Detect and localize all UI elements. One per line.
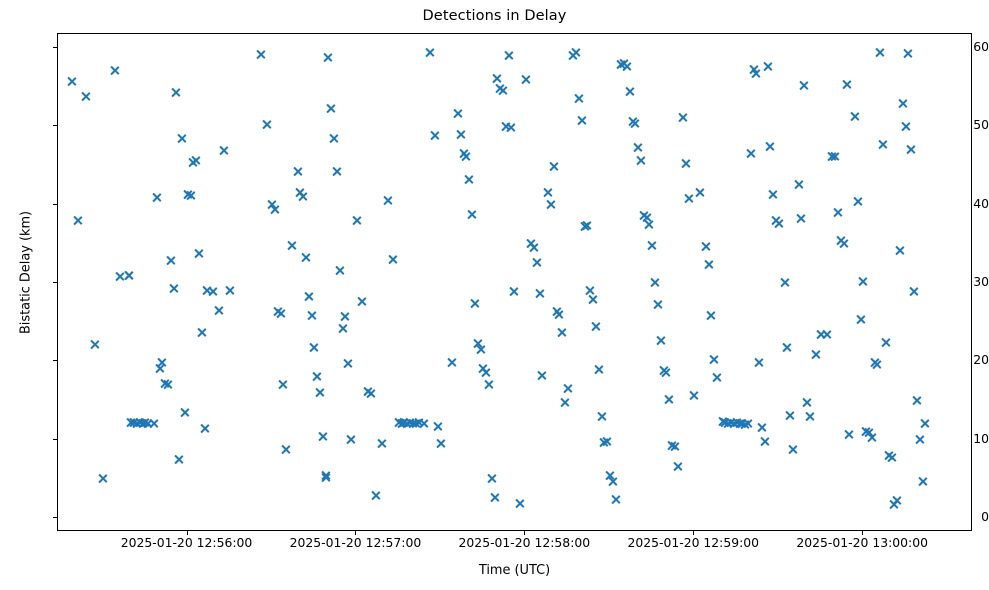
scatter-point (739, 419, 750, 430)
scatter-point (292, 166, 303, 177)
scatter-point (877, 139, 888, 150)
scatter-point (894, 245, 905, 256)
scatter-point (312, 371, 323, 382)
scatter-point (278, 379, 289, 390)
scatter-point (590, 321, 601, 332)
scatter-point (320, 470, 331, 481)
scatter-point (452, 108, 463, 119)
scatter-point (154, 363, 165, 374)
scatter-point (593, 364, 604, 375)
scatter-point (157, 357, 168, 368)
scatter-point (556, 327, 567, 338)
scatter-point (644, 219, 655, 230)
scatter-point (573, 93, 584, 104)
x-tick-label: 2025-01-20 12:56:00 (121, 536, 253, 549)
scatter-point (357, 296, 368, 307)
scatter-point (300, 252, 311, 263)
scatter-point (751, 68, 762, 79)
scatter-point (889, 499, 900, 510)
scatter-point (849, 111, 860, 122)
scatter-point (334, 265, 345, 276)
scatter-point (872, 359, 883, 370)
scatter-point (382, 195, 393, 206)
scatter-point (309, 342, 320, 353)
scatter-plot-area (57, 33, 972, 531)
scatter-point (917, 476, 928, 487)
scatter-point (551, 306, 562, 317)
scatter-point (174, 454, 185, 465)
scatter-point (635, 155, 646, 166)
scatter-point (680, 158, 691, 169)
scatter-point (67, 76, 78, 87)
scatter-point (638, 210, 649, 221)
scatter-point (430, 130, 441, 141)
scatter-point (500, 121, 511, 132)
scatter-point (469, 298, 480, 309)
scatter-point (723, 418, 734, 429)
scatter-point (661, 367, 672, 378)
scatter-point (266, 199, 277, 210)
scatter-point (754, 357, 765, 368)
scatter-point (737, 418, 748, 429)
scatter-point (269, 204, 280, 215)
scatter-point (123, 270, 134, 281)
scatter-point (652, 299, 663, 310)
scatter-point (863, 427, 874, 438)
scatter-point (317, 431, 328, 442)
scatter-point (219, 145, 230, 156)
scatter-point (869, 357, 880, 368)
scatter-point (162, 379, 173, 390)
scatter-point (542, 187, 553, 198)
scatter-point (579, 221, 590, 232)
scatter-point (224, 285, 235, 296)
scatter-point (827, 151, 838, 162)
scatter-point (114, 271, 125, 282)
scatter-point (700, 241, 711, 252)
scatter-point (537, 370, 548, 381)
scatter-point (185, 190, 196, 201)
scatter-point (599, 437, 610, 448)
scatter-point (402, 418, 413, 429)
scatter-point (908, 286, 919, 297)
scatter-point (796, 213, 807, 224)
x-tick-mark (693, 531, 694, 535)
scatter-point (520, 74, 531, 85)
scatter-point (655, 335, 666, 346)
scatter-point (404, 417, 415, 428)
scatter-point (393, 417, 404, 428)
scatter-point (804, 411, 815, 422)
scatter-point (131, 418, 142, 429)
scatter-point (903, 48, 914, 59)
scatter-point (213, 305, 224, 316)
scatter-point (134, 417, 145, 428)
scatter-point (314, 387, 325, 398)
scatter-point (466, 209, 477, 220)
scatter-point (495, 83, 506, 94)
scatter-point (376, 438, 387, 449)
x-tick-label: 2025-01-20 12:57:00 (290, 536, 422, 549)
scatter-point (703, 259, 714, 270)
scatter-point (858, 276, 869, 287)
scatter-point (886, 452, 897, 463)
scatter-point (663, 394, 674, 405)
scatter-point (641, 212, 652, 223)
scatter-point (632, 142, 643, 153)
scatter-point (914, 434, 925, 445)
scatter-point (624, 86, 635, 97)
scatter-point (810, 349, 821, 360)
scatter-point (407, 418, 418, 429)
scatter-point (396, 418, 407, 429)
scatter-point (176, 133, 187, 144)
scatter-point (126, 417, 137, 428)
scatter-point (295, 187, 306, 198)
scatter-point (683, 193, 694, 204)
scatter-point (129, 417, 140, 428)
scatter-point (897, 98, 908, 109)
scatter-point (793, 179, 804, 190)
scatter-point (514, 498, 525, 509)
scatter-point (708, 354, 719, 365)
scatter-point (190, 155, 201, 166)
scatter-point (734, 418, 745, 429)
scatter-point (658, 365, 669, 376)
scatter-point (261, 119, 272, 130)
scatter-point (706, 310, 717, 321)
scatter-point (844, 429, 855, 440)
scatter-point (548, 161, 559, 172)
scatter-point (109, 65, 120, 76)
scatter-point (621, 61, 632, 72)
scatter-point (345, 434, 356, 445)
scatter-point (604, 470, 615, 481)
scatter-point (585, 285, 596, 296)
scatter-point (756, 422, 767, 433)
scatter-point (435, 438, 446, 449)
x-tick-label: 2025-01-20 12:59:00 (627, 536, 759, 549)
scatter-point (337, 323, 348, 334)
scatter-point (534, 288, 545, 299)
scatter-point (159, 378, 170, 389)
scatter-point (413, 417, 424, 428)
scatter-point (475, 344, 486, 355)
scatter-point (607, 476, 618, 487)
scatter-point (168, 283, 179, 294)
scatter-point (531, 257, 542, 268)
scatter-point (576, 115, 587, 126)
scatter-point (596, 411, 607, 422)
scatter-point (647, 240, 658, 251)
scatter-point (571, 47, 582, 58)
scatter-point (433, 421, 444, 432)
scatter-point (694, 187, 705, 198)
scatter-point (666, 440, 677, 451)
scatter-point (362, 386, 373, 397)
scatter-point (649, 277, 660, 288)
scatter-point (81, 91, 92, 102)
scatter-point (455, 129, 466, 140)
scatter-point (388, 254, 399, 265)
scatter-point (920, 418, 931, 429)
scatter-point (759, 436, 770, 447)
scatter-point (801, 397, 812, 408)
scatter-point (830, 151, 841, 162)
scatter-point (779, 277, 790, 288)
scatter-point (770, 215, 781, 226)
scatter-point (745, 148, 756, 159)
scatter-point (179, 407, 190, 418)
scatter-point (582, 220, 593, 231)
scatter-point (165, 255, 176, 266)
scatter-point (492, 73, 503, 84)
scatter-point (480, 367, 491, 378)
scatter-point (630, 118, 641, 129)
scatter-point (821, 329, 832, 340)
scatter-point (717, 416, 728, 427)
scatter-point (610, 494, 621, 505)
scatter-point (525, 238, 536, 249)
scatter-point (320, 472, 331, 483)
x-tick-label: 2025-01-20 13:00:00 (796, 536, 928, 549)
scatter-point (669, 441, 680, 452)
scatter-point (787, 444, 798, 455)
scatter-point (306, 310, 317, 321)
scatter-point (272, 306, 283, 317)
scatter-point (72, 215, 83, 226)
scatter-point (89, 339, 100, 350)
scatter-point (627, 116, 638, 127)
scatter-point (202, 285, 213, 296)
scatter-point (447, 357, 458, 368)
scatter-point (616, 59, 627, 70)
scatter-point (861, 426, 872, 437)
scatter-point (911, 395, 922, 406)
scatter-point (140, 417, 151, 428)
scatter-point (281, 444, 292, 455)
scatter-point (762, 61, 773, 72)
scatter-point (410, 418, 421, 429)
scatter-point (866, 432, 877, 443)
scatter-point (199, 423, 210, 434)
y-axis-label: Bistatic Delay (km) (19, 143, 34, 403)
scatter-point (419, 418, 430, 429)
scatter-point (182, 189, 193, 200)
scatter-point (148, 418, 159, 429)
scatter-point (464, 174, 475, 185)
scatter-point (765, 141, 776, 152)
scatter-point (497, 85, 508, 96)
scatter-point (528, 242, 539, 253)
scatter-point (340, 311, 351, 322)
scatter-point (852, 196, 863, 207)
scatter-point (587, 294, 598, 305)
scatter-point (98, 473, 109, 484)
scatter-point (568, 50, 579, 61)
scatter-point (841, 79, 852, 90)
scatter-point (196, 327, 207, 338)
scatter-point (328, 133, 339, 144)
scatter-point (483, 379, 494, 390)
x-tick-mark (187, 531, 188, 535)
scatter-point (297, 191, 308, 202)
scatter-point (672, 461, 683, 472)
scatter-point (875, 47, 886, 58)
scatter-point (478, 363, 489, 374)
scatter-point (472, 338, 483, 349)
scatter-point (331, 166, 342, 177)
scatter-point (365, 388, 376, 399)
scatter-point (323, 52, 334, 63)
scatter-point (880, 337, 891, 348)
scatter-point (275, 308, 286, 319)
x-tick-label: 2025-01-20 12:58:00 (459, 536, 591, 549)
scatter-point (193, 248, 204, 259)
scatter-point (838, 238, 849, 249)
scatter-point (123, 270, 134, 281)
scatter-point (255, 49, 266, 60)
scatter-point (554, 309, 565, 320)
scatter-point (689, 390, 700, 401)
scatter-point (562, 383, 573, 394)
scatter-point (559, 397, 570, 408)
scatter-point (725, 417, 736, 428)
chart-title: Detections in Delay (0, 8, 989, 24)
scatter-point (748, 64, 759, 75)
scatter-point (900, 121, 911, 132)
scatter-point (486, 473, 497, 484)
scatter-point (171, 87, 182, 98)
scatter-point (188, 157, 199, 168)
scatter-point (489, 492, 500, 503)
scatter-point (785, 410, 796, 421)
scatter-point (742, 418, 753, 429)
scatter-point (906, 144, 917, 155)
x-tick-mark (355, 531, 356, 535)
x-tick-mark (524, 531, 525, 535)
scatter-point (286, 240, 297, 251)
scatter-point (351, 215, 362, 226)
scatter-point (782, 342, 793, 353)
scatter-point (711, 372, 722, 383)
x-tick-mark (862, 531, 863, 535)
scatter-point (151, 192, 162, 203)
scatter-point (143, 418, 154, 429)
scatter-point (835, 235, 846, 246)
scatter-point (509, 286, 520, 297)
x-axis-label: Time (UTC) (57, 563, 972, 578)
scatter-point (503, 50, 514, 61)
scatter-point (371, 490, 382, 501)
scatter-point (832, 207, 843, 218)
scatter-point (399, 417, 410, 428)
scatter-point (720, 417, 731, 428)
scatter-point (458, 148, 469, 159)
scatter-point (303, 291, 314, 302)
scatter-point (137, 418, 148, 429)
scatter-point (799, 80, 810, 91)
scatter-point (326, 103, 337, 114)
scatter-point (891, 495, 902, 506)
scatter-point (461, 151, 472, 162)
scatter-point (602, 436, 613, 447)
scatter-point (506, 122, 517, 133)
scatter-point (855, 314, 866, 325)
scatter-point (618, 58, 629, 69)
scatter-point (731, 417, 742, 428)
scatter-point (815, 329, 826, 340)
scatter-point (207, 286, 218, 297)
scatter-point (773, 218, 784, 229)
scatter-point (342, 358, 353, 369)
scatter-point (728, 418, 739, 429)
scatter-point (678, 112, 689, 123)
chart-figure: Detections in Delay Bistatic Delay (km) … (0, 0, 989, 590)
scatter-point (883, 450, 894, 461)
scatter-point (424, 47, 435, 58)
scatter-point (768, 189, 779, 200)
scatter-point (545, 199, 556, 210)
